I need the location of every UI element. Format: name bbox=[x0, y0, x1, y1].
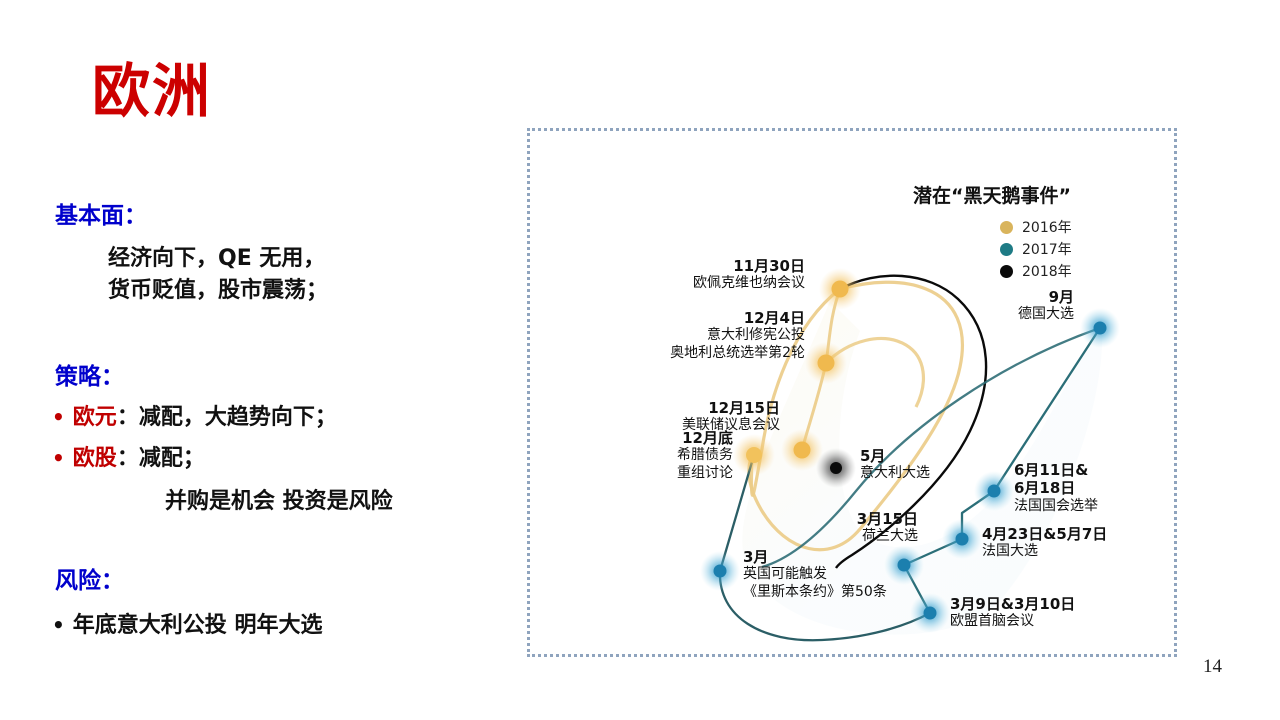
node-label-1130: 11月30日 欧佩克维也纳会议 bbox=[625, 257, 805, 293]
node-label-mar-desc2: 《里斯本条约》第50条 bbox=[743, 584, 887, 602]
page-number: 14 bbox=[1203, 656, 1222, 678]
node-label-1231-date: 12月底 bbox=[615, 429, 733, 447]
node-dot-may bbox=[830, 462, 842, 474]
node-label-1231-desc: 希腊债务 bbox=[615, 447, 733, 465]
legend-label-2017: 2017年 bbox=[1022, 239, 1072, 259]
fundamentals-heading: 基本面： bbox=[55, 196, 147, 230]
node-label-0611: 6月11日& 6月18日 法国国会选举 bbox=[1014, 461, 1098, 515]
strategy-bullet-equity-separator: ： bbox=[117, 440, 139, 472]
node-label-1204-desc: 意大利修宪公投 bbox=[595, 327, 805, 345]
legend-item-2018: 2018年 bbox=[1000, 260, 1072, 282]
node-label-mar-desc: 英国可能触发 bbox=[743, 566, 887, 584]
node-label-0315: 3月15日 荷兰大选 bbox=[810, 510, 918, 546]
node-dot-sep bbox=[1094, 322, 1107, 335]
node-label-may-desc: 意大利大选 bbox=[860, 465, 930, 483]
strategy-bullet-eur-keyword: 欧元 bbox=[73, 399, 117, 431]
node-dot-1215 bbox=[794, 442, 811, 459]
node-label-may: 5月 意大利大选 bbox=[860, 447, 930, 483]
node-label-0611-desc: 法国国会选举 bbox=[1014, 498, 1098, 516]
fundamentals-line-2: 货币贬值，股市震荡； bbox=[108, 272, 328, 304]
node-label-1215-date: 12月15日 bbox=[608, 399, 780, 417]
node-label-1130-desc: 欧佩克维也纳会议 bbox=[625, 275, 805, 293]
node-label-0423: 4月23日&5月7日 法国大选 bbox=[982, 525, 1107, 561]
node-dot-0309 bbox=[924, 607, 937, 620]
legend-list: 2016年 2017年 2018年 bbox=[1000, 216, 1072, 282]
node-label-0309-date: 3月9日&3月10日 bbox=[950, 595, 1075, 613]
node-label-1231-desc2: 重组讨论 bbox=[615, 465, 733, 483]
strategy-bullet-equity-keyword: 欧股 bbox=[73, 440, 117, 472]
node-label-sep: 9月 德国大选 bbox=[962, 288, 1074, 324]
strategy-bullet-equity: • 欧股 ： 减配； bbox=[52, 440, 205, 472]
node-label-0315-desc: 荷兰大选 bbox=[810, 528, 918, 546]
node-dot-0315 bbox=[898, 559, 911, 572]
node-label-1204-date: 12月4日 bbox=[595, 309, 805, 327]
node-dot-0611 bbox=[988, 485, 1001, 498]
node-label-1130-date: 11月30日 bbox=[625, 257, 805, 275]
legend-item-2017: 2017年 bbox=[1000, 238, 1072, 260]
node-dot-1204 bbox=[818, 355, 835, 372]
strategy-bullet-eur-separator: ： bbox=[117, 399, 139, 431]
strategy-bullet-eur-text: 减配，大趋势向下； bbox=[139, 399, 337, 431]
black-swan-diagram-panel: 潜在“黑天鹅事件” 2016年 2017年 2018年 11月30日 欧佩克 bbox=[527, 128, 1177, 657]
page-title: 欧洲 bbox=[92, 62, 212, 120]
legend-label-2018: 2018年 bbox=[1022, 261, 1072, 281]
node-label-0315-date: 3月15日 bbox=[810, 510, 918, 528]
risk-bullet-1: • 年底意大利公投 明年大选 bbox=[52, 607, 322, 639]
legend-swatch-2016 bbox=[1000, 221, 1013, 234]
node-dot-0423 bbox=[956, 533, 969, 546]
node-label-0309-desc: 欧盟首脑会议 bbox=[950, 613, 1075, 631]
strategy-continuation: 并购是机会 投资是风险 bbox=[165, 483, 393, 515]
strategy-bullet-eur: • 欧元 ： 减配，大趋势向下； bbox=[52, 399, 337, 431]
legend-swatch-2017 bbox=[1000, 243, 1013, 256]
fundamentals-line-1: 经济向下，QE 无用， bbox=[108, 240, 325, 272]
node-label-0423-desc: 法国大选 bbox=[982, 543, 1107, 561]
legend-item-2016: 2016年 bbox=[1000, 216, 1072, 238]
node-dot-1130 bbox=[832, 281, 849, 298]
node-label-0423-date: 4月23日&5月7日 bbox=[982, 525, 1107, 543]
strategy-heading: 策略： bbox=[55, 357, 124, 391]
bullet-dot-icon: • bbox=[52, 407, 65, 427]
node-label-0611-date2: 6月18日 bbox=[1014, 479, 1098, 497]
legend-label-2016: 2016年 bbox=[1022, 217, 1072, 237]
bullet-dot-icon: • bbox=[52, 448, 65, 468]
node-label-mar: 3月 英国可能触发 《里斯本条约》第50条 bbox=[743, 548, 887, 601]
legend-swatch-2018 bbox=[1000, 265, 1013, 278]
node-label-mar-date: 3月 bbox=[743, 548, 887, 566]
diagram-canvas: 潜在“黑天鹅事件” 2016年 2017年 2018年 11月30日 欧佩克 bbox=[530, 131, 1174, 654]
node-dot-1231 bbox=[746, 447, 762, 463]
node-label-0309: 3月9日&3月10日 欧盟首脑会议 bbox=[950, 595, 1075, 631]
risk-heading: 风险： bbox=[55, 561, 124, 595]
node-label-0611-date: 6月11日& bbox=[1014, 461, 1098, 479]
node-label-may-date: 5月 bbox=[860, 447, 930, 465]
risk-bullet-1-text: 年底意大利公投 明年大选 bbox=[73, 607, 323, 639]
slide-root: 欧洲 基本面： 经济向下，QE 无用， 货币贬值，股市震荡； 策略： • 欧元 … bbox=[0, 0, 1280, 720]
left-text-column: 欧洲 基本面： 经济向下，QE 无用， 货币贬值，股市震荡； 策略： • 欧元 … bbox=[0, 0, 500, 720]
node-label-1204: 12月4日 意大利修宪公投 奥地利总统选举第2轮 bbox=[595, 309, 805, 362]
legend-title: 潜在“黑天鹅事件” bbox=[913, 181, 1071, 208]
node-label-sep-date: 9月 bbox=[962, 288, 1074, 306]
node-label-1204-desc2: 奥地利总统选举第2轮 bbox=[595, 345, 805, 363]
node-label-1231: 12月底 希腊债务 重组讨论 bbox=[615, 429, 733, 482]
node-label-sep-desc: 德国大选 bbox=[962, 306, 1074, 324]
node-dot-mar bbox=[714, 565, 727, 578]
strategy-bullet-equity-text: 减配； bbox=[139, 440, 205, 472]
bullet-dot-icon: • bbox=[52, 615, 65, 635]
